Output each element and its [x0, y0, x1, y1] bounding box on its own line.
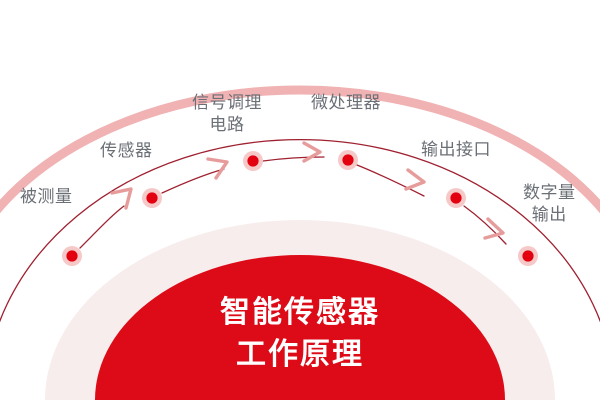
- flow-node-mcu[interactable]: [338, 150, 358, 170]
- flow-label-line: 信号调理: [192, 92, 262, 114]
- background-arcs: [0, 90, 600, 400]
- infographic-canvas: 被测量 传感器 信号调理 电路 微处理器 输出接口 数字量 输出 智能传感器 工…: [0, 0, 600, 400]
- flow-node-digital-out[interactable]: [518, 246, 538, 266]
- flow-node-measurand[interactable]: [62, 246, 82, 266]
- connector-mcu-to-interface: [357, 165, 424, 196]
- flow-label-conditioning: 信号调理 电路: [192, 92, 262, 136]
- connector-conditioning-to-mcu: [263, 143, 324, 161]
- connector-line: [162, 169, 224, 193]
- connector-measurand-to-sensor: [80, 189, 131, 248]
- connector-line: [263, 157, 324, 161]
- arrow-head-icon: [208, 159, 227, 178]
- flow-label-line: 数字量: [523, 182, 576, 204]
- flow-label-digital-out: 数字量 输出: [523, 182, 576, 226]
- connector-line: [357, 165, 424, 196]
- flow-label-line: 输出接口: [421, 139, 491, 161]
- node-core: [146, 192, 157, 203]
- flow-label-line: 电路: [192, 114, 262, 136]
- node-core: [450, 192, 461, 203]
- flow-label-line: 输出: [523, 204, 576, 226]
- flow-label-line: 传感器: [100, 140, 153, 162]
- flow-label-interface: 输出接口: [421, 139, 491, 161]
- infographic-artwork: [0, 0, 600, 400]
- flow-label-line: 微处理器: [311, 92, 381, 114]
- arrow-head-icon: [485, 219, 503, 238]
- connector-interface-to-digital-out: [464, 206, 506, 244]
- node-core: [522, 250, 533, 261]
- flow-label-line: 被测量: [20, 186, 73, 208]
- arrow-head-icon: [304, 143, 320, 161]
- flow-node-interface[interactable]: [446, 188, 466, 208]
- node-core: [342, 154, 353, 165]
- connector-line: [80, 206, 124, 248]
- node-core: [66, 250, 77, 261]
- node-core: [247, 155, 258, 166]
- flow-label-sensor: 传感器: [100, 140, 153, 162]
- flow-label-mcu: 微处理器: [311, 92, 381, 114]
- flow-node-sensor[interactable]: [142, 188, 162, 208]
- arrow-head-icon: [406, 170, 424, 189]
- arrow-head-icon: [112, 189, 131, 208]
- flow-node-conditioning[interactable]: [243, 151, 263, 171]
- flow-label-measurand: 被测量: [20, 186, 73, 208]
- connector-sensor-to-conditioning: [162, 159, 227, 193]
